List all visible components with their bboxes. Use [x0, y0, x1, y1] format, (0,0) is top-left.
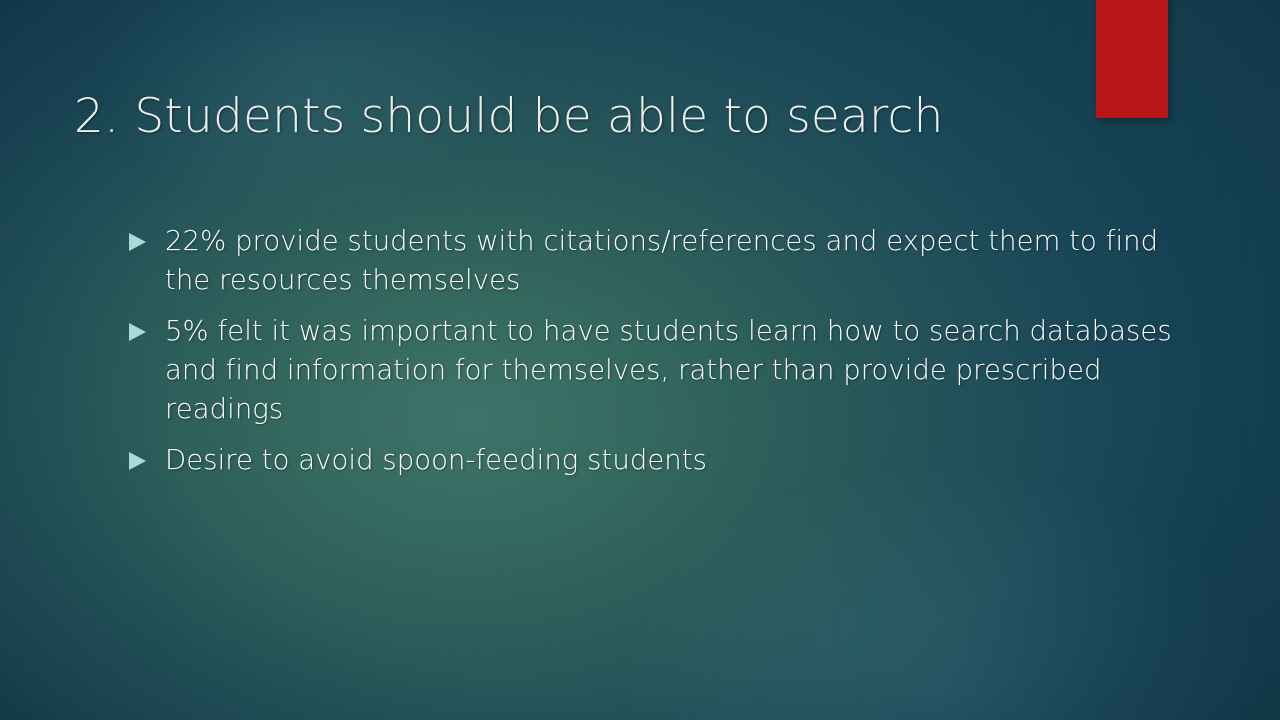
list-item-label: 22% provide students with citations/refe… — [165, 222, 1173, 300]
presentation-slide: 2. Students should be able to search 22%… — [0, 0, 1280, 720]
triangle-right-icon — [128, 323, 148, 341]
red-accent-bar — [1096, 0, 1168, 118]
slide-title: 2. Students should be able to search — [74, 83, 1074, 150]
list-item-label: Desire to avoid spoon-feeding students — [165, 441, 1173, 480]
triangle-right-icon — [128, 233, 148, 251]
list-item: Desire to avoid spoon-feeding students — [128, 441, 1173, 480]
list-item: 22% provide students with citations/refe… — [128, 222, 1173, 300]
triangle-right-icon — [128, 452, 148, 470]
slide-bullet-list: 22% provide students with citations/refe… — [128, 222, 1173, 480]
list-item-label: 5% felt it was important to have student… — [165, 312, 1173, 429]
list-item: 5% felt it was important to have student… — [128, 312, 1173, 429]
